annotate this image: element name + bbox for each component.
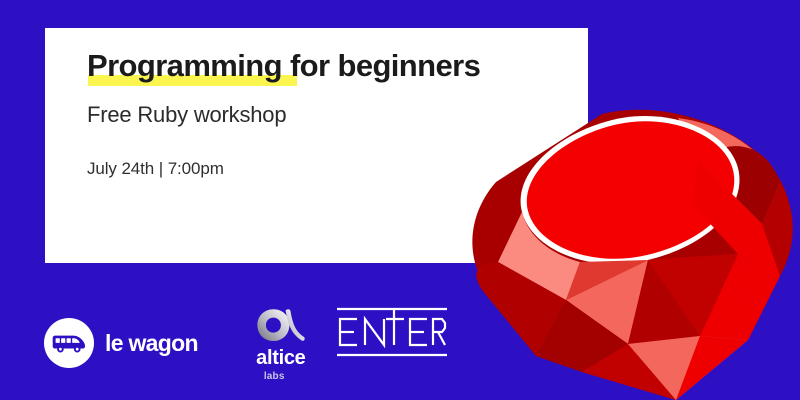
van-icon <box>52 332 86 354</box>
altice-wordmark: altice <box>256 348 305 368</box>
content-card: Programming for beginners Free Ruby work… <box>45 28 588 263</box>
logo-enter[interactable] <box>336 306 448 363</box>
altice-labs-subtext: labs <box>264 372 285 382</box>
card-content: Programming for beginners Free Ruby work… <box>87 50 570 179</box>
page-title-text: Programming for beginners <box>87 48 480 83</box>
altice-a-mark <box>255 306 307 346</box>
sponsor-logo-row: le wagon <box>44 300 448 386</box>
subtitle: Free Ruby workshop <box>87 81 570 128</box>
event-datetime: July 24th | 7:00pm <box>87 128 570 179</box>
page-title: Programming for beginners <box>87 50 570 81</box>
logo-altice-labs[interactable]: altice labs <box>242 304 320 382</box>
enter-wordmark <box>336 306 448 358</box>
event-banner: Programming for beginners Free Ruby work… <box>0 0 800 400</box>
logo-le-wagon[interactable]: le wagon <box>44 317 198 369</box>
le-wagon-badge <box>44 318 94 368</box>
le-wagon-wordmark: le wagon <box>105 332 198 355</box>
